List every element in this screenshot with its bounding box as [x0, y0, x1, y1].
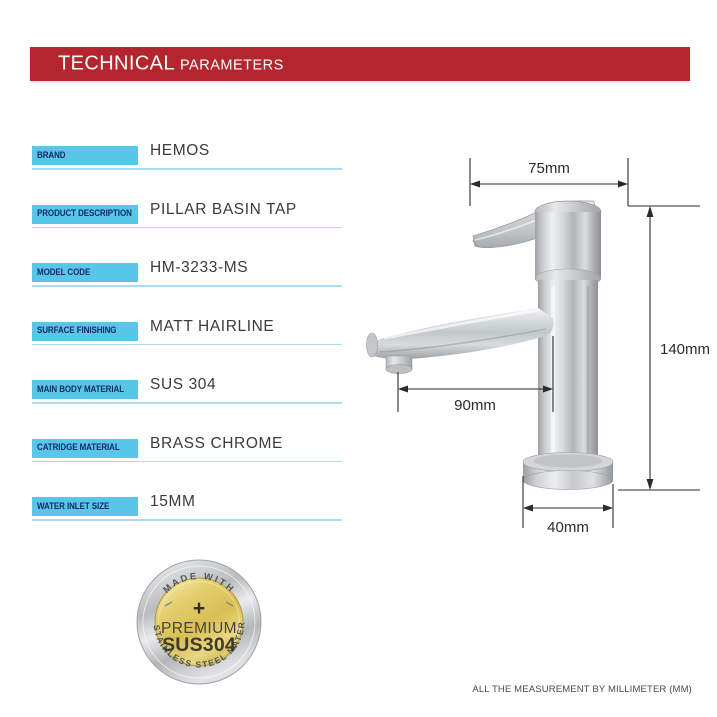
spec-label-text: MAIN BODY MATERIAL	[37, 385, 124, 394]
spec-underline	[32, 461, 342, 463]
dimension-label-handle-width: 75mm	[528, 160, 570, 177]
badge-plus-icon: +	[193, 597, 205, 620]
page-title-sub: PARAMETERS	[180, 58, 284, 74]
spec-row: PRODUCT DESCRIPTION PILLAR BASIN TAP	[32, 199, 342, 258]
spec-underline	[32, 344, 342, 346]
spec-underline	[32, 402, 342, 404]
badge-line2: SUS304	[162, 634, 236, 656]
faucet-spout-tip	[367, 333, 378, 357]
spec-value-surface-finishing: MATT HAIRLINE	[150, 318, 274, 336]
product-image-with-dimensions: 75mm 140mm 90mm 40mm	[360, 140, 717, 560]
faucet-illustration	[367, 201, 614, 490]
faucet-base-bottom	[523, 471, 613, 490]
premium-sus304-badge: MADE WITH 304 STAINLESS STEEL MATERIAL +…	[136, 559, 262, 685]
spec-row: BRAND HEMOS	[32, 140, 342, 199]
spec-row: WATER INLET SIZE 15MM	[32, 491, 342, 550]
spec-value-model-code: HM-3233-MS	[150, 259, 248, 277]
spec-label-main-body-material: MAIN BODY MATERIAL	[32, 380, 138, 399]
spec-label-text: SURFACE FINISHING	[37, 326, 116, 335]
spec-underline	[32, 519, 342, 521]
spec-row: SURFACE FINISHING MATT HAIRLINE	[32, 316, 342, 375]
spec-label-text: CATRIDGE MATERIAL	[37, 443, 120, 452]
dimension-label-base-diameter: 40mm	[547, 519, 589, 536]
technical-parameters-sheet: TECHNICALPARAMETERS BRAND HEMOS PRODUCT …	[0, 0, 717, 717]
spec-label-product-description: PRODUCT DESCRIPTION	[32, 205, 138, 224]
spec-value-catridge-material: BRASS CHROME	[150, 435, 283, 453]
spec-label-model-code: MODEL CODE	[32, 263, 138, 282]
dimension-label-height: 140mm	[660, 341, 710, 358]
spec-label-text: PRODUCT DESCRIPTION	[37, 209, 132, 218]
spec-label-catridge-material: CATRIDGE MATERIAL	[32, 439, 138, 458]
spec-label-water-inlet-size: WATER INLET SIZE	[32, 497, 138, 516]
spec-label-text: MODEL CODE	[37, 268, 90, 277]
spec-label-brand: BRAND	[32, 146, 138, 165]
spec-value-product-description: PILLAR BASIN TAP	[150, 201, 297, 219]
header-banner: TECHNICALPARAMETERS	[30, 47, 690, 81]
spec-underline	[32, 227, 342, 229]
spec-label-text: BRAND	[37, 151, 65, 160]
spec-value-brand: HEMOS	[150, 142, 210, 160]
spec-table: BRAND HEMOS PRODUCT DESCRIPTION PILLAR B…	[32, 140, 342, 550]
page-title: TECHNICALPARAMETERS	[58, 53, 284, 76]
spec-underline	[32, 285, 342, 287]
spec-label-text: WATER INLET SIZE	[37, 502, 109, 511]
page-title-main: TECHNICAL	[58, 53, 175, 75]
spec-value-water-inlet-size: 15MM	[150, 493, 195, 511]
spec-label-surface-finishing: SURFACE FINISHING	[32, 322, 138, 341]
spec-row: CATRIDGE MATERIAL BRASS CHROME	[32, 433, 342, 492]
measurement-note: ALL THE MEASUREMENT BY MILLIMETER (MM)	[472, 684, 692, 695]
spec-row: MAIN BODY MATERIAL SUS 304	[32, 374, 342, 433]
dimension-label-spout-reach: 90mm	[454, 397, 496, 414]
spec-underline	[32, 168, 342, 170]
spec-row: MODEL CODE HM-3233-MS	[32, 257, 342, 316]
spec-value-main-body-material: SUS 304	[150, 376, 216, 394]
